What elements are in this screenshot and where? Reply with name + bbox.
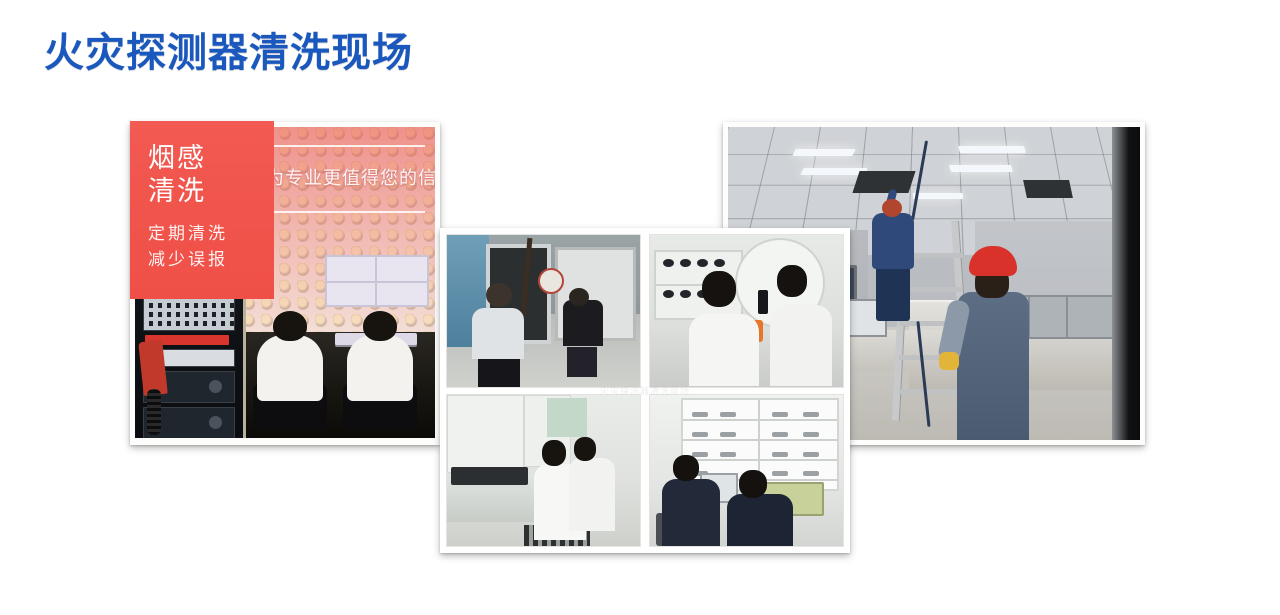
stored-detector <box>772 452 788 457</box>
photo-left-caption: 因为专业更值得您的信赖 <box>247 149 429 209</box>
stored-detector <box>772 432 788 437</box>
photo-grid[interactable]: 火灾探测器清洗现场 <box>440 228 850 553</box>
badge-subtext-line-1: 定期清洗 <box>148 221 274 247</box>
inspector-head <box>486 283 512 307</box>
handset-cord <box>147 389 161 435</box>
detector-item <box>680 259 691 267</box>
legs <box>876 265 910 321</box>
detector-item <box>680 290 691 298</box>
detector-item <box>714 259 725 267</box>
head <box>363 311 397 341</box>
wall-cabinet <box>447 395 524 474</box>
technician-shirt <box>563 300 603 345</box>
banner-rule-bottom <box>255 211 425 213</box>
wash-worker-2-coat <box>569 458 615 531</box>
photo-grid-inner: 火灾探测器清洗现场 <box>446 234 844 547</box>
rack-knob-2 <box>209 416 222 429</box>
stored-detector <box>692 432 708 437</box>
stored-detector <box>772 412 788 417</box>
ceiling-lamp <box>958 146 1026 153</box>
banner-rule-top <box>255 145 425 147</box>
microscope <box>758 290 768 314</box>
wash-sink <box>451 467 528 485</box>
wall-emblem-icon <box>538 268 564 294</box>
technician-head <box>569 288 589 306</box>
red-hard-hat <box>969 246 1017 276</box>
worker-on-ladder <box>868 183 924 321</box>
stored-detector <box>772 471 788 476</box>
seated-worker-1 <box>253 311 327 429</box>
grid-cell-d[interactable] <box>649 394 844 548</box>
yellow-glove <box>939 352 959 370</box>
inspector-shirt <box>472 308 524 360</box>
green-panel <box>547 398 587 437</box>
ceiling-lamp <box>792 149 855 156</box>
stored-detector <box>803 471 819 476</box>
page-title: 火灾探测器清洗现场 <box>44 30 413 76</box>
smoke-detector-cleaning-badge[interactable]: 烟感 清洗 定期清洗 减少误报 <box>130 121 274 299</box>
lab-worker-1-coat <box>689 314 759 387</box>
stored-detector <box>720 412 736 417</box>
lab-worker-1-head <box>702 271 736 307</box>
stored-detector <box>692 412 708 417</box>
lab-worker-2-coat <box>770 305 832 387</box>
wash-worker-1-head <box>542 440 566 466</box>
technician-1-head <box>673 455 699 481</box>
badge-headline-line-2: 清洗 <box>148 176 274 209</box>
worker-with-hard-hat <box>955 246 1033 440</box>
fire-alarm-control-rack <box>135 289 246 438</box>
badge-subtext: 定期清洗 减少误报 <box>148 221 274 274</box>
seated-worker-2 <box>343 311 417 429</box>
grid-cell-c[interactable] <box>446 394 641 548</box>
detector-item <box>697 259 708 267</box>
badge-headline: 烟感 清洗 <box>148 143 274 209</box>
blue-uniform <box>872 213 914 269</box>
detector-item <box>663 259 674 267</box>
wash-worker-2-head <box>574 437 596 461</box>
lab-worker-2-head <box>777 265 807 297</box>
rack-button-panel <box>143 295 235 331</box>
lab-coat <box>347 335 413 401</box>
stored-detector <box>720 432 736 437</box>
detector-item <box>663 290 674 298</box>
stored-detector <box>803 432 819 437</box>
console-screen <box>1066 295 1116 339</box>
technician-1-uniform <box>662 479 720 546</box>
stored-detector <box>803 452 819 457</box>
stored-detector <box>803 412 819 417</box>
grid-cell-a[interactable] <box>446 234 641 388</box>
technician-2-uniform <box>727 494 793 546</box>
stored-detector <box>720 452 736 457</box>
stored-detector <box>692 452 708 457</box>
technician-2-head <box>739 470 767 498</box>
rack-knob-1 <box>209 380 222 393</box>
ceiling-lamp <box>949 165 1013 172</box>
head <box>273 311 307 341</box>
grid-cell-b[interactable] <box>649 234 844 388</box>
badge-subtext-line-2: 减少误报 <box>148 247 274 273</box>
ladder-step <box>899 389 963 394</box>
ceiling-air-vent <box>1023 180 1073 198</box>
badge-headline-line-1: 烟感 <box>148 143 274 176</box>
lab-coat <box>257 335 323 401</box>
technician-legs <box>567 347 597 377</box>
poster-canvas: 火灾探测器清洗现场 因为专业更值得您的信赖 <box>0 0 1280 615</box>
doorway-pillar <box>1112 127 1140 440</box>
wall-shelf <box>325 255 429 307</box>
